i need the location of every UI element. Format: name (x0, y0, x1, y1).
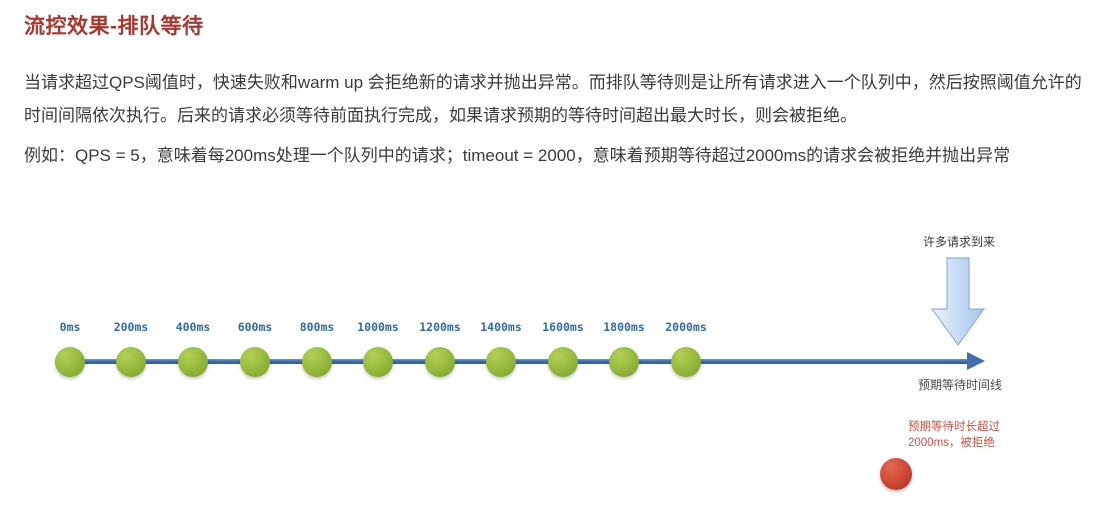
timeline-tick-label: 800ms (300, 320, 335, 334)
expected-wait-timeline-label: 预期等待时间线 (898, 376, 1022, 393)
timeline-tick-label: 1800ms (603, 320, 645, 334)
rejected-request-label-line1: 预期等待时长超过 (908, 419, 1038, 435)
timeline-request-node (302, 347, 332, 377)
paragraph-example: 例如：QPS = 5，意味着每200ms处理一个队列中的请求；timeout =… (24, 139, 1092, 172)
timeline-tick-label: 200ms (114, 320, 149, 334)
timeline-request-node (55, 347, 85, 377)
timeline-request-node (609, 347, 639, 377)
timeline-tick-label: 1200ms (419, 320, 461, 334)
timeline-axis-arrow-icon (967, 352, 985, 370)
incoming-requests-label: 许多请求到来 (905, 233, 1013, 250)
timeline-tick-label: 2000ms (665, 320, 707, 334)
timeline-request-node (671, 347, 701, 377)
timeline-tick-label: 1400ms (480, 320, 522, 334)
timeline-request-node (548, 347, 578, 377)
timeline-tick-label: 1600ms (542, 320, 584, 334)
rejected-request-label-line2: 2000ms，被拒绝 (908, 435, 1038, 451)
timeline-tick-label: 1000ms (357, 320, 399, 334)
timeline-request-node (425, 347, 455, 377)
incoming-requests-arrow-icon (929, 257, 987, 347)
timeline-request-node (486, 347, 516, 377)
timeline-tick-label: 600ms (238, 320, 273, 334)
timeline-request-node (178, 347, 208, 377)
timeline-request-node (363, 347, 393, 377)
body-text: 当请求超过QPS阈值时，快速失败和warm up 会拒绝新的请求并抛出异常。而排… (24, 66, 1092, 172)
rejected-request-label: 预期等待时长超过 2000ms，被拒绝 (908, 419, 1038, 451)
rejected-request-node (880, 458, 912, 490)
timeline-tick-label: 400ms (176, 320, 211, 334)
page-title: 流控效果-排队等待 (24, 10, 204, 40)
timeline-tick-label: 0ms (60, 320, 81, 334)
paragraph-description: 当请求超过QPS阈值时，快速失败和warm up 会拒绝新的请求并抛出异常。而排… (24, 66, 1092, 132)
timeline-request-node (240, 347, 270, 377)
timeline-request-node (116, 347, 146, 377)
